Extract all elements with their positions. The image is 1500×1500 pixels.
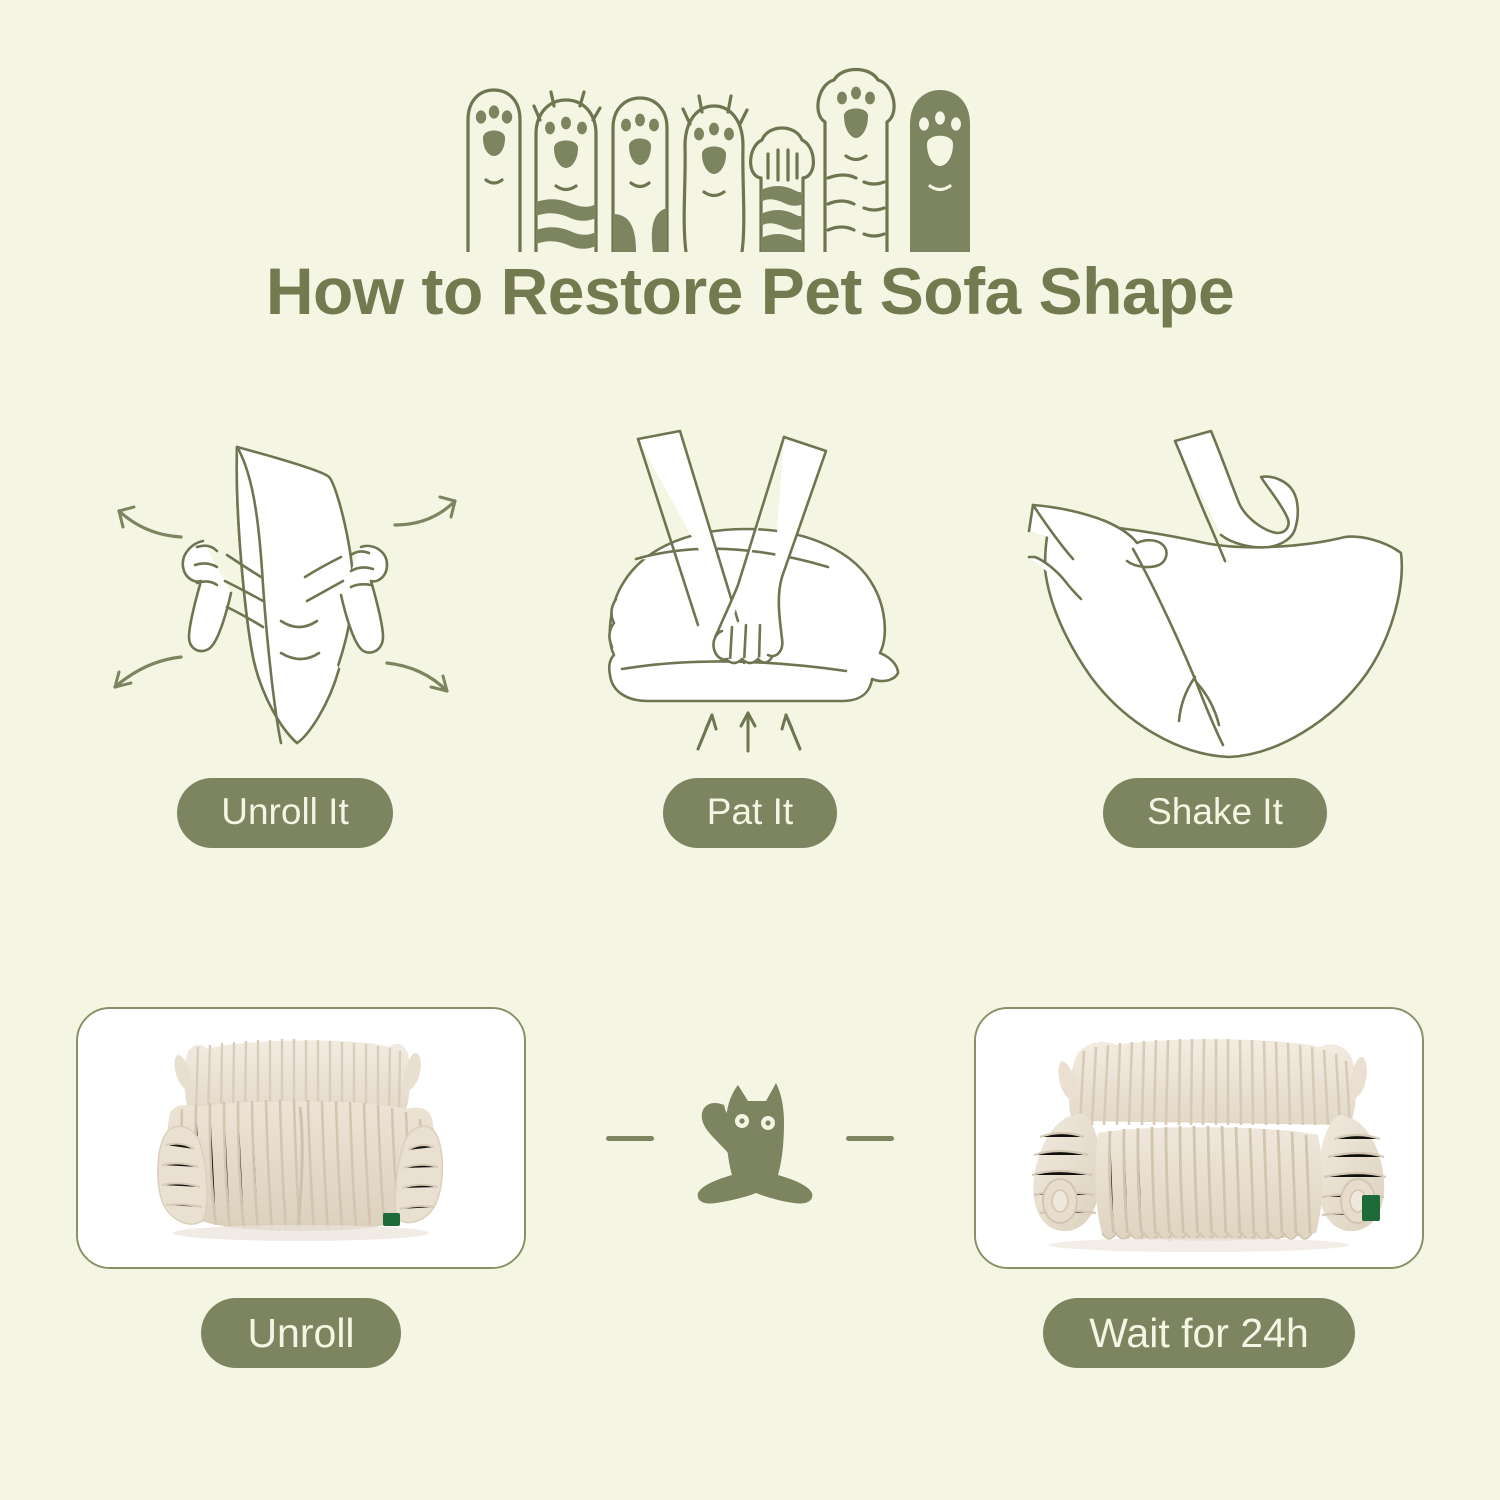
photo-card-after (974, 1007, 1424, 1269)
result-label-wait-24h: Wait for 24h (1043, 1298, 1355, 1368)
step-unroll-it: Unroll It (70, 420, 500, 870)
step-label-pat-it: Pat It (663, 778, 837, 848)
expanded-pet-sofa-photo (976, 1009, 1422, 1267)
cat-paws-row (0, 62, 1500, 252)
folded-pet-bed-photo (78, 1009, 524, 1267)
step-3-illustration-wrap (1015, 420, 1415, 770)
paw-6 (818, 70, 894, 253)
step-label-shake-it: Shake It (1103, 778, 1327, 848)
paw-7 (910, 90, 970, 252)
upward-arrows (698, 713, 800, 751)
photo-card-before (76, 1007, 526, 1269)
result-label-unroll: Unroll (201, 1298, 400, 1368)
paw-3 (613, 98, 667, 252)
separator-dash-right (846, 1136, 894, 1141)
separator-dash-left (606, 1136, 654, 1141)
hands-patting-cushion-icon (570, 425, 930, 765)
label-slot-middle (570, 1298, 930, 1368)
cat-silhouette-icon (680, 1061, 820, 1216)
step-shake-it: Shake It (1000, 420, 1430, 870)
step-2-illustration-wrap (570, 420, 930, 770)
cat-paws-illustration (450, 62, 1050, 252)
paw-5 (751, 128, 814, 252)
infographic-page: How to Restore Pet Sofa Shape (0, 0, 1500, 1500)
result-labels-row: Unroll Wait for 24h (0, 1298, 1500, 1368)
steps-row: Unroll It (0, 420, 1500, 870)
result-separator (570, 1038, 930, 1238)
paw-1 (468, 90, 520, 252)
result-row (0, 998, 1500, 1278)
hands-unrolling-fabric-icon (85, 425, 485, 765)
brand-tag (1362, 1195, 1380, 1221)
hands-shaking-fabric-icon (1015, 425, 1415, 765)
step-1-illustration-wrap (85, 420, 485, 770)
step-label-unroll-it: Unroll It (177, 778, 392, 848)
step-pat-it: Pat It (535, 420, 965, 870)
label-slot-after: Wait for 24h (974, 1298, 1424, 1368)
paw-4 (683, 96, 747, 252)
brand-tag (383, 1213, 400, 1226)
paw-2 (534, 92, 600, 252)
page-title: How to Restore Pet Sofa Shape (0, 253, 1500, 329)
label-slot-before: Unroll (76, 1298, 526, 1368)
